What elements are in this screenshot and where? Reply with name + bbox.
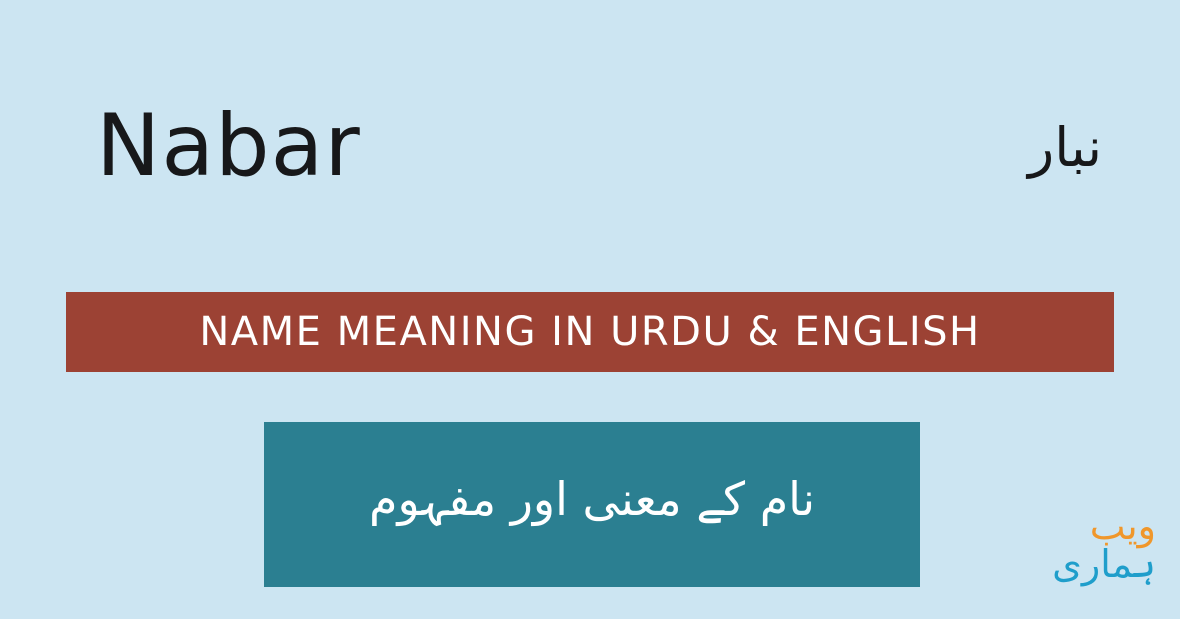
meaning-banner-english-label: NAME MEANING IN URDU & ENGLISH <box>199 309 980 355</box>
meaning-banner-english: NAME MEANING IN URDU & ENGLISH <box>66 292 1114 372</box>
meaning-banner-urdu: نام کے معنی اور مفہوم <box>264 422 920 587</box>
name-urdu: نبار <box>842 110 1102 186</box>
site-logo-line-bottom: ہمارى <box>1052 543 1156 585</box>
poster-canvas: Nabar نبار NAME MEANING IN URDU & ENGLIS… <box>0 0 1180 619</box>
meaning-banner-urdu-label: نام کے معنی اور مفہوم <box>369 467 815 541</box>
name-english: Nabar <box>96 96 361 196</box>
site-logo: ویب ہمارى <box>1022 505 1162 605</box>
site-logo-line-top: ویب <box>1090 505 1156 547</box>
